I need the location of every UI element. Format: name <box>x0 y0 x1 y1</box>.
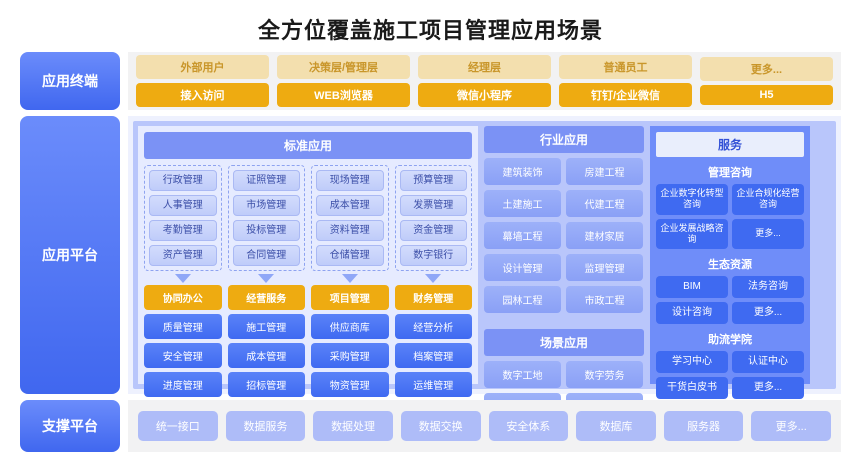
terminal-role: 普通员工 <box>559 55 692 79</box>
app-chip[interactable]: 进度管理 <box>144 372 222 397</box>
app-chip[interactable]: 行政管理 <box>149 170 217 191</box>
service-chip[interactable]: 更多... <box>732 377 804 399</box>
app-chip[interactable]: 资产管理 <box>149 245 217 266</box>
services-group-grid: 学习中心 认证中心 干货白皮书 更多... <box>656 351 804 399</box>
app-chip[interactable]: 发票管理 <box>400 195 468 216</box>
app-chip[interactable]: 质量管理 <box>144 314 222 339</box>
platform-inner: 标准应用 行政管理 人事管理 考勤管理 资产管理 证照管理 市场管理 投标管理 <box>133 121 836 389</box>
app-chip[interactable]: 采购管理 <box>311 343 389 368</box>
terminal-columns: 外部用户 接入访问 决策层/管理层 WEB浏览器 经理层 微信小程序 普通员工 … <box>128 52 841 110</box>
arrow-down-icon <box>175 274 191 283</box>
service-chip[interactable]: 学习中心 <box>656 351 728 373</box>
professional-group-head[interactable]: 项目管理 <box>311 285 389 310</box>
arrow-down-icon <box>425 274 441 283</box>
support-chip[interactable]: 数据服务 <box>226 411 306 441</box>
industry-chip[interactable]: 幕墙工程 <box>484 222 561 249</box>
services-group-title: 生态资源 <box>656 256 804 272</box>
terminal-channel[interactable]: 接入访问 <box>136 83 269 107</box>
app-chip[interactable]: 数字银行 <box>400 245 468 266</box>
service-chip[interactable]: 设计咨询 <box>656 302 728 324</box>
platform-body: 标准应用 行政管理 人事管理 考勤管理 资产管理 证照管理 市场管理 投标管理 <box>128 116 841 394</box>
support-chip[interactable]: 服务器 <box>664 411 744 441</box>
support-items: 统一接口 数据服务 数据处理 数据交换 安全体系 数据库 服务器 更多... <box>128 400 841 452</box>
app-chip[interactable]: 资料管理 <box>316 220 384 241</box>
app-chip[interactable]: 仓储管理 <box>316 245 384 266</box>
terminal-role: 决策层/管理层 <box>277 55 410 79</box>
app-chip[interactable]: 成本管理 <box>228 343 306 368</box>
industry-application-grid: 建筑装饰 房建工程 土建施工 代建工程 幕墙工程 建材家居 设计管理 监理管理 … <box>484 158 644 313</box>
terminal-column: 决策层/管理层 WEB浏览器 <box>277 55 410 107</box>
app-chip[interactable]: 物资管理 <box>311 372 389 397</box>
app-chip[interactable]: 经营分析 <box>395 314 473 339</box>
support-chip[interactable]: 数据库 <box>576 411 656 441</box>
app-chip[interactable]: 预算管理 <box>400 170 468 191</box>
terminal-column: 普通员工 钉钉/企业微信 <box>559 55 692 107</box>
terminal-column: 经理层 微信小程序 <box>418 55 551 107</box>
arrow-cell <box>395 274 473 283</box>
standard-group: 预算管理 发票管理 资金管理 数字银行 <box>395 165 473 271</box>
terminal-channel[interactable]: WEB浏览器 <box>277 83 410 107</box>
support-band: 支撑平台 统一接口 数据服务 数据处理 数据交换 安全体系 数据库 服务器 更多… <box>20 400 841 452</box>
industry-chip[interactable]: 建筑装饰 <box>484 158 561 185</box>
arrow-down-icon <box>258 274 274 283</box>
industry-application-header: 行业应用 <box>484 126 644 153</box>
services-group-title: 管理咨询 <box>656 164 804 180</box>
professional-application-grid: 协同办公 质量管理 安全管理 进度管理 经营服务 施工管理 成本管理 招标管理 <box>144 285 472 397</box>
app-chip[interactable]: 安全管理 <box>144 343 222 368</box>
standard-group: 行政管理 人事管理 考勤管理 资产管理 <box>144 165 222 271</box>
arrow-cell <box>311 274 389 283</box>
sidebar-label-platform: 应用平台 <box>20 116 120 394</box>
industry-scene-column: 行业应用 建筑装饰 房建工程 土建施工 代建工程 幕墙工程 建材家居 设计管理 … <box>484 126 644 384</box>
arrow-row <box>144 274 472 283</box>
scene-chip[interactable]: 数字劳务 <box>566 361 643 388</box>
industry-chip[interactable]: 园林工程 <box>484 286 561 313</box>
app-chip[interactable]: 成本管理 <box>316 195 384 216</box>
support-chip[interactable]: 统一接口 <box>138 411 218 441</box>
app-chip[interactable]: 招标管理 <box>228 372 306 397</box>
terminal-column: 外部用户 接入访问 <box>136 55 269 107</box>
support-chip[interactable]: 安全体系 <box>489 411 569 441</box>
services-group-grid: 企业数字化转型咨询 企业合规化经营咨询 企业发展战略咨询 更多... <box>656 184 804 249</box>
professional-group-head[interactable]: 协同办公 <box>144 285 222 310</box>
industry-chip[interactable]: 建材家居 <box>566 222 643 249</box>
support-chip[interactable]: 数据交换 <box>401 411 481 441</box>
professional-group: 项目管理 供应商库 采购管理 物资管理 <box>311 285 389 397</box>
professional-group: 财务管理 经营分析 档案管理 运维管理 <box>395 285 473 397</box>
terminal-role: 外部用户 <box>136 55 269 79</box>
infographic-page: 全方位覆盖施工项目管理应用场景 应用终端 外部用户 接入访问 决策层/管理层 W… <box>0 0 861 464</box>
service-chip[interactable]: 更多... <box>732 219 804 250</box>
standard-group: 现场管理 成本管理 资料管理 仓储管理 <box>311 165 389 271</box>
terminal-channel[interactable]: 钉钉/企业微信 <box>559 83 692 107</box>
support-chip[interactable]: 更多... <box>751 411 831 441</box>
terminal-column: 更多... H5 <box>700 57 833 105</box>
app-chip[interactable]: 投标管理 <box>233 220 301 241</box>
standard-application-header: 标准应用 <box>144 132 472 159</box>
services-group-title: 助流学院 <box>656 331 804 347</box>
terminal-role: 经理层 <box>418 55 551 79</box>
professional-group-head[interactable]: 财务管理 <box>395 285 473 310</box>
app-chip[interactable]: 现场管理 <box>316 170 384 191</box>
industry-chip[interactable]: 设计管理 <box>484 254 561 281</box>
professional-group: 经营服务 施工管理 成本管理 招标管理 <box>228 285 306 397</box>
services-group-grid: BIM 法务咨询 设计咨询 更多... <box>656 276 804 324</box>
service-chip[interactable]: 认证中心 <box>732 351 804 373</box>
terminal-role: 更多... <box>700 57 833 81</box>
app-chip[interactable]: 供应商库 <box>311 314 389 339</box>
industry-chip[interactable]: 土建施工 <box>484 190 561 217</box>
professional-group: 协同办公 质量管理 安全管理 进度管理 <box>144 285 222 397</box>
sidebar-label-support: 支撑平台 <box>20 400 120 452</box>
app-chip[interactable]: 档案管理 <box>395 343 473 368</box>
service-chip[interactable]: 企业发展战略咨询 <box>656 219 728 250</box>
service-chip[interactable]: 企业数字化转型咨询 <box>656 184 728 215</box>
app-chip[interactable]: 运维管理 <box>395 372 473 397</box>
professional-group-head[interactable]: 经营服务 <box>228 285 306 310</box>
service-chip[interactable]: 干货白皮书 <box>656 377 728 399</box>
support-chip[interactable]: 数据处理 <box>313 411 393 441</box>
services-header: 服务 <box>656 132 804 157</box>
app-chip[interactable]: 合同管理 <box>233 245 301 266</box>
standard-application-panel: 标准应用 行政管理 人事管理 考勤管理 资产管理 证照管理 市场管理 投标管理 <box>138 126 478 384</box>
service-chip[interactable]: 更多... <box>732 302 804 324</box>
scene-application-header: 场景应用 <box>484 329 644 356</box>
platform-band: 应用平台 标准应用 行政管理 人事管理 考勤管理 资产管理 证照管理 <box>20 116 841 394</box>
terminal-channel[interactable]: 微信小程序 <box>418 83 551 107</box>
standard-group: 证照管理 市场管理 投标管理 合同管理 <box>228 165 306 271</box>
app-chip[interactable]: 考勤管理 <box>149 220 217 241</box>
terminal-band: 应用终端 外部用户 接入访问 决策层/管理层 WEB浏览器 经理层 微信小程序 … <box>20 52 841 110</box>
app-chip[interactable]: 资金管理 <box>400 220 468 241</box>
service-chip[interactable]: BIM <box>656 276 728 298</box>
arrow-cell <box>144 274 222 283</box>
services-panel: 服务 管理咨询 企业数字化转型咨询 企业合规化经营咨询 企业发展战略咨询 更多.… <box>650 126 810 384</box>
terminal-channel[interactable]: H5 <box>700 85 833 105</box>
scene-chip[interactable]: 数字工地 <box>484 361 561 388</box>
service-chip[interactable]: 法务咨询 <box>732 276 804 298</box>
industry-chip[interactable]: 代建工程 <box>566 190 643 217</box>
industry-application-panel: 行业应用 建筑装饰 房建工程 土建施工 代建工程 幕墙工程 建材家居 设计管理 … <box>484 126 644 313</box>
industry-chip[interactable]: 市政工程 <box>566 286 643 313</box>
standard-application-grid: 行政管理 人事管理 考勤管理 资产管理 证照管理 市场管理 投标管理 合同管理 <box>144 165 472 271</box>
page-title: 全方位覆盖施工项目管理应用场景 <box>0 0 861 52</box>
app-chip[interactable]: 证照管理 <box>233 170 301 191</box>
app-chip[interactable]: 人事管理 <box>149 195 217 216</box>
industry-chip[interactable]: 监理管理 <box>566 254 643 281</box>
app-chip[interactable]: 施工管理 <box>228 314 306 339</box>
sidebar-label-terminal: 应用终端 <box>20 52 120 110</box>
arrow-cell <box>228 274 306 283</box>
arrow-down-icon <box>342 274 358 283</box>
industry-chip[interactable]: 房建工程 <box>566 158 643 185</box>
service-chip[interactable]: 企业合规化经营咨询 <box>732 184 804 215</box>
app-chip[interactable]: 市场管理 <box>233 195 301 216</box>
